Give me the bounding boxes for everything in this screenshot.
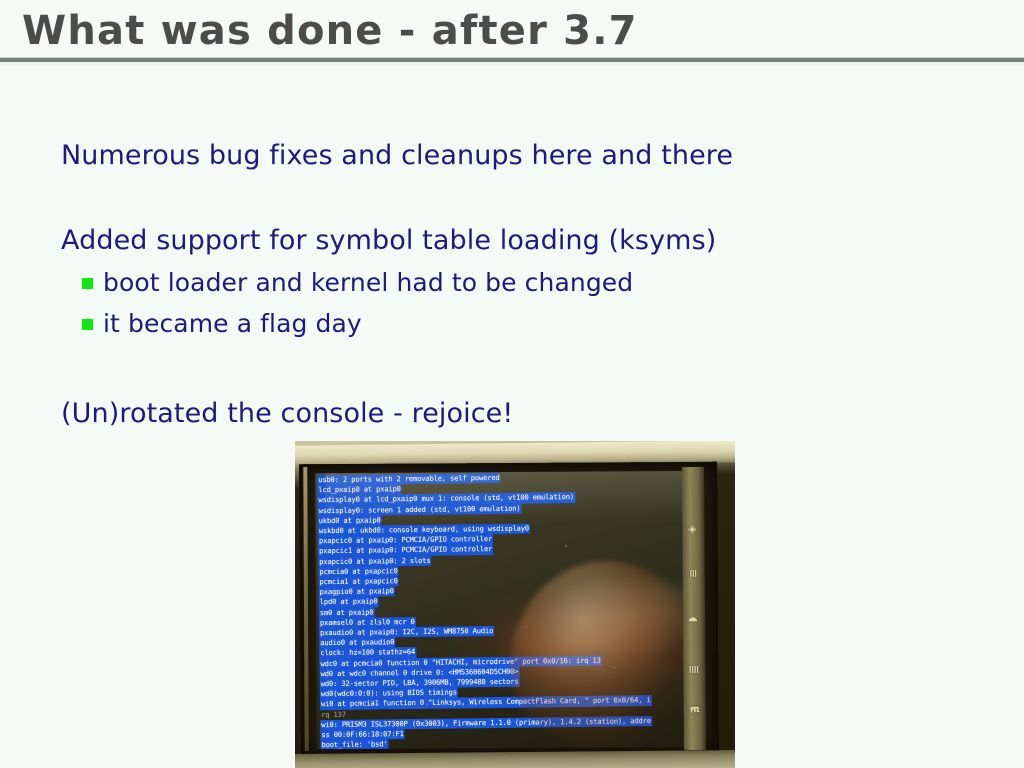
console-line-text: pxagpio0 at pxaip0 (319, 586, 395, 597)
slide: What was done - after 3.7 Numerous bug f… (0, 0, 1024, 768)
device-photo: usb0: 2 ports with 2 removable, self pow… (295, 441, 735, 768)
console-line-text: ss 00:0F:66:18:07:F1 (320, 729, 405, 740)
device-bezel-bottom (295, 750, 735, 768)
bezel-glyph-icon: ◖ (687, 612, 700, 627)
device-lcd-screen: usb0: 2 ports with 2 removable, self pow… (315, 471, 685, 749)
console-line-text: boot_file: 'bsd' (320, 740, 388, 750)
list-item: boot loader and kernel had to be changed (82, 268, 633, 297)
console-output: usb0: 2 ports with 2 removable, self pow… (317, 471, 685, 749)
bezel-glyph-icon: ≣ (687, 662, 700, 677)
bezel-glyph-icon: ≡ (687, 566, 700, 581)
square-bullet-icon (82, 319, 93, 330)
page-title: What was done - after 3.7 (22, 8, 638, 54)
slide-header: What was done - after 3.7 (0, 0, 1024, 64)
bullet-line-console: (Un)rotated the console - rejoice! (61, 398, 513, 429)
bezel-glyph-icon: Ɇ (688, 702, 701, 717)
bullet-line-ksyms: Added support for symbol table loading (… (61, 225, 716, 256)
device-bezel-right-strip: ◈≡◖≣Ɇ (682, 467, 706, 750)
sub-bullet-label: boot loader and kernel had to be changed (103, 268, 633, 297)
console-line-text: rq 137 (320, 709, 347, 718)
sub-bullet-label: it became a flag day (103, 309, 362, 338)
console-line-text: sm0 at pxaip0 (319, 607, 375, 618)
bezel-glyph-icon: ◈ (686, 522, 699, 537)
console-line-text: pxapcic0 at pxaip0: 2 slots (318, 555, 431, 567)
bullet-line-bugfixes: Numerous bug fixes and cleanups here and… (61, 140, 733, 171)
device-lcd-frame: usb0: 2 ports with 2 removable, self pow… (299, 462, 719, 757)
square-bullet-icon (82, 278, 93, 289)
list-item: it became a flag day (82, 309, 362, 338)
console-line-text: lpd0 at pxaip0 (319, 597, 379, 608)
console-line-text: pxaudio0 at pxaip0: I2C, I2S, WM8750 Aud… (319, 626, 494, 638)
title-divider (0, 57, 1024, 62)
